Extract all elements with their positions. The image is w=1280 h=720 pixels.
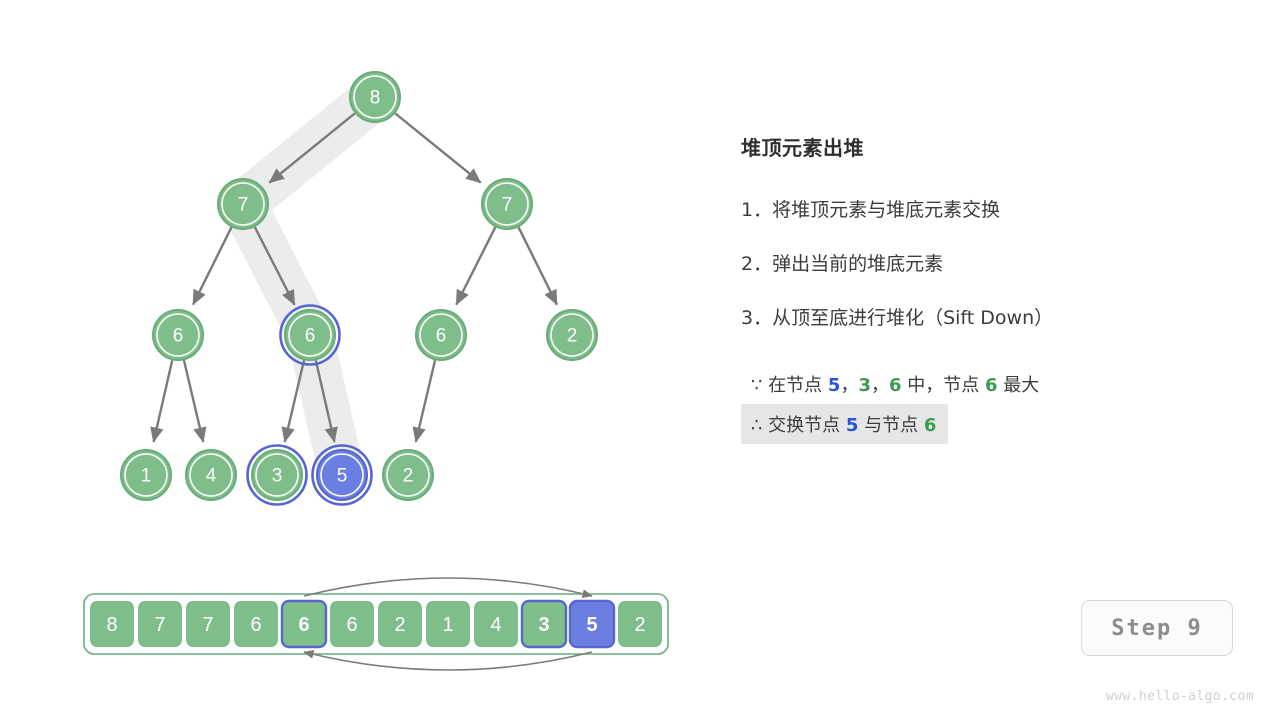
watermark: www.hello-algo.com [1106, 689, 1254, 704]
array-cell: 6 [234, 601, 278, 647]
array-cell: 7 [186, 601, 230, 647]
array-cell-value: 7 [202, 614, 213, 636]
array-cell: 3 [522, 601, 566, 647]
because-sep-2: ， [871, 375, 889, 396]
therefore-prefix: ∴ 交换节点 [751, 415, 846, 436]
array-cell: 6 [330, 601, 374, 647]
therefore-value-a: 5 [846, 415, 859, 436]
because-max-value: 6 [985, 375, 998, 396]
array-cell: 1 [426, 601, 470, 647]
because-line: ∵ 在节点 5，3，6 中，节点 6 最大 [741, 364, 1051, 404]
because-value-a: 5 [828, 375, 841, 396]
array-cell-value: 3 [538, 614, 549, 636]
array-cell-value: 7 [154, 614, 165, 636]
array-cell-value: 1 [442, 614, 453, 636]
array-diagram: 877666214352 [0, 0, 710, 720]
because-value-b: 3 [858, 375, 871, 396]
step-item-1: 1．将堆顶元素与堆底元素交换 [741, 195, 1241, 222]
reason-block: ∵ 在节点 5，3，6 中，节点 6 最大 ∴ 交换节点 5 与节点 6 [741, 364, 1241, 444]
array-cells: 877666214352 [90, 601, 662, 647]
step-item-3: 3．从顶至底进行堆化（Sift Down） [741, 303, 1241, 330]
because-prefix: ∵ 在节点 [751, 375, 828, 396]
because-middle: 中，节点 [902, 375, 985, 396]
therefore-value-b: 6 [924, 415, 937, 436]
array-cell-value: 5 [586, 614, 597, 636]
array-cell: 4 [474, 601, 518, 647]
array-cell-value: 6 [250, 614, 261, 636]
array-cell: 2 [618, 601, 662, 647]
because-sep-1: ， [840, 375, 858, 396]
because-value-c: 6 [889, 375, 902, 396]
page-title: 堆顶元素出堆 [741, 132, 1241, 161]
therefore-line: ∴ 交换节点 5 与节点 6 [741, 404, 948, 444]
therefore-middle: 与节点 [858, 415, 923, 436]
array-cell: 6 [282, 601, 326, 647]
array-cell: 5 [570, 601, 614, 647]
because-suffix: 最大 [997, 375, 1039, 396]
diagram-area: 877666214352 877666214352 [0, 0, 710, 720]
array-cell: 7 [138, 601, 182, 647]
array-cell-value: 6 [298, 614, 309, 636]
step-badge: Step 9 [1081, 600, 1233, 656]
array-cell-value: 2 [394, 614, 405, 636]
array-cell-value: 2 [634, 614, 645, 636]
array-cell: 8 [90, 601, 134, 647]
explanation-panel: 堆顶元素出堆 1．将堆顶元素与堆底元素交换 2．弹出当前的堆底元素 3．从顶至底… [741, 132, 1241, 444]
array-cell-value: 6 [346, 614, 357, 636]
step-item-2: 2．弹出当前的堆底元素 [741, 249, 1241, 276]
array-cell: 2 [378, 601, 422, 647]
array-cell-value: 4 [490, 614, 501, 636]
array-cell-value: 8 [106, 614, 117, 636]
